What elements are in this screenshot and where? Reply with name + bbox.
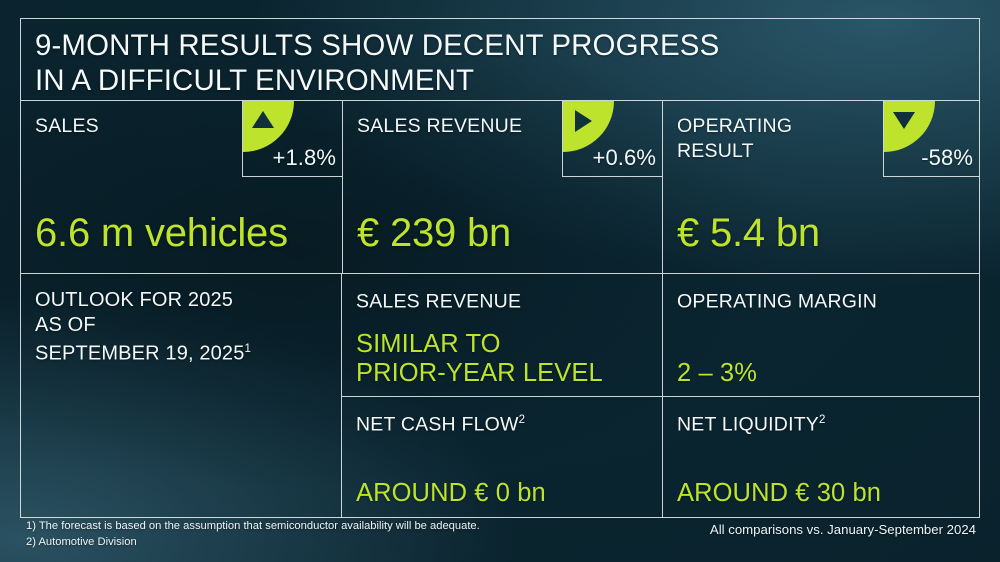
kpi-value-sales-revenue: € 239 bn	[357, 211, 511, 255]
delta-badge-sales-revenue: +0.6%	[562, 101, 662, 177]
outlook-label-text: OPERATING MARGIN	[677, 291, 877, 313]
outlook-heading-footnote-marker: 1	[244, 343, 251, 355]
kpi-label-sales: SALES	[21, 101, 236, 139]
triangle-up-icon	[252, 111, 274, 128]
delta-value-sales: +1.8%	[243, 146, 336, 170]
delta-badge-operating-result: -58%	[883, 101, 979, 177]
outlook-heading-cell: OUTLOOK FOR 2025 AS OF SEPTEMBER 19, 202…	[21, 274, 341, 518]
outlook-label-footnote-marker: 2	[519, 414, 526, 426]
outlook-row-2: NET CASH FLOW2 AROUND € 0 bn NET LIQUIDI…	[342, 396, 979, 518]
kpi-card-sales-revenue: SALES REVENUE +0.6% € 239 bn	[342, 101, 662, 273]
triangle-down-icon	[893, 112, 915, 129]
kpi-card-sales: SALES +1.8% 6.6 m vehicles	[21, 101, 342, 273]
outlook-heading: OUTLOOK FOR 2025 AS OF SEPTEMBER 19, 202…	[35, 288, 341, 366]
outlook-row-1: SALES REVENUE SIMILAR TO PRIOR-YEAR LEVE…	[342, 274, 979, 396]
outlook-grid: SALES REVENUE SIMILAR TO PRIOR-YEAR LEVE…	[341, 274, 979, 518]
kpi-value-sales: 6.6 m vehicles	[35, 211, 288, 255]
comparison-note: All comparisons vs. January-September 20…	[710, 522, 976, 538]
outlook-cell-operating-margin: OPERATING MARGIN 2 – 3%	[662, 274, 979, 396]
triangle-right-icon	[575, 110, 592, 132]
delta-badge-sales: +1.8%	[242, 101, 342, 177]
kpi-row: SALES +1.8% 6.6 m vehicles SALES REVENUE…	[21, 101, 979, 273]
delta-value-operating-result: -58%	[884, 146, 973, 170]
outlook-label-footnote-marker: 2	[819, 414, 826, 426]
outlook-label-text: NET CASH FLOW	[356, 414, 519, 436]
footnotes: 1) The forecast is based on the assumpti…	[26, 519, 480, 550]
outlook-label-sales-revenue: SALES REVENUE	[356, 286, 662, 314]
outlook-value-net-liquidity: AROUND € 30 bn	[677, 479, 881, 508]
kpi-card-operating-result: OPERATING RESULT -58% € 5.4 bn	[662, 101, 979, 273]
outlook-value-net-cash-flow: AROUND € 0 bn	[356, 479, 546, 508]
slide-frame: 9-MONTH RESULTS SHOW DECENT PROGRESS IN …	[20, 18, 980, 518]
outlook-value-sales-revenue: SIMILAR TO PRIOR-YEAR LEVEL	[356, 330, 603, 388]
kpi-label-sales-revenue: SALES REVENUE	[343, 101, 558, 139]
page-title: 9-MONTH RESULTS SHOW DECENT PROGRESS IN …	[21, 19, 979, 101]
outlook-cell-sales-revenue: SALES REVENUE SIMILAR TO PRIOR-YEAR LEVE…	[342, 274, 662, 396]
outlook-cell-net-cash-flow: NET CASH FLOW2 AROUND € 0 bn	[342, 397, 662, 518]
outlook-heading-text: OUTLOOK FOR 2025 AS OF SEPTEMBER 19, 202…	[35, 289, 244, 365]
outlook-label-text: SALES REVENUE	[356, 291, 521, 313]
kpi-value-operating-result: € 5.4 bn	[677, 211, 820, 255]
outlook-section: OUTLOOK FOR 2025 AS OF SEPTEMBER 19, 202…	[21, 273, 979, 518]
outlook-label-net-cash-flow: NET CASH FLOW2	[356, 409, 662, 437]
kpi-label-operating-result: OPERATING RESULT	[663, 101, 878, 164]
delta-value-sales-revenue: +0.6%	[563, 146, 656, 170]
outlook-label-net-liquidity: NET LIQUIDITY2	[677, 409, 979, 437]
outlook-label-operating-margin: OPERATING MARGIN	[677, 286, 979, 314]
outlook-value-operating-margin: 2 – 3%	[677, 359, 757, 388]
outlook-label-text: NET LIQUIDITY	[677, 414, 819, 436]
outlook-cell-net-liquidity: NET LIQUIDITY2 AROUND € 30 bn	[662, 397, 979, 518]
